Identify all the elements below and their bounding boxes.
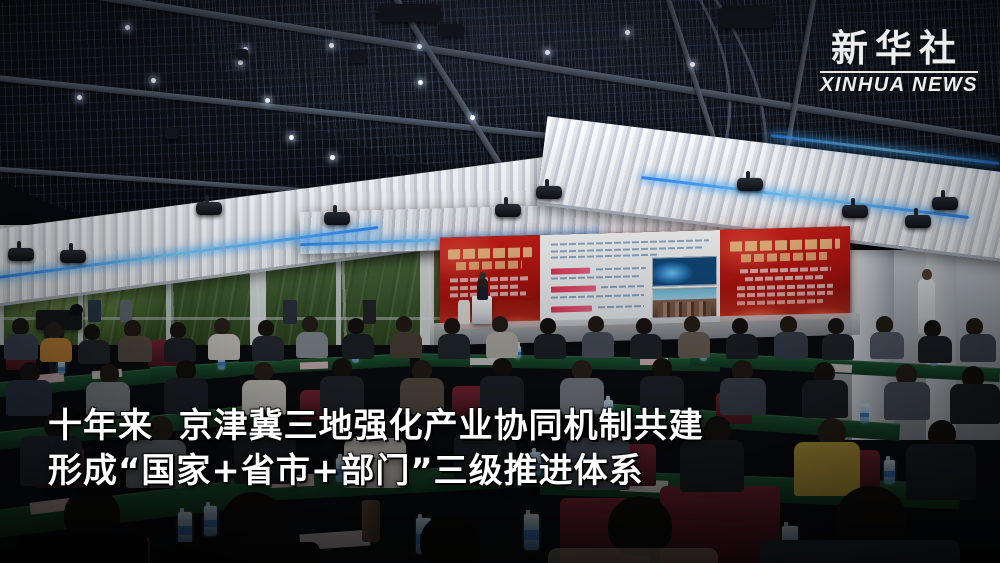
- person-head: [652, 358, 672, 378]
- video-frame: 新华社 XINHUA NEWS 十年来 京津冀三地强化产业协同机制共建 形成“国…: [0, 0, 1000, 563]
- water-bottle: [58, 360, 65, 375]
- person-head: [20, 362, 40, 382]
- person-body: [960, 334, 996, 362]
- ceiling-light: [329, 43, 334, 48]
- person-head: [412, 360, 432, 380]
- person-head: [572, 360, 592, 380]
- person-body: [454, 434, 516, 484]
- person-body: [794, 442, 860, 496]
- slide-text-line: [596, 267, 646, 270]
- screen-subtitle-text: [456, 260, 522, 270]
- person-body: [640, 376, 684, 412]
- water-bottle: [524, 514, 539, 550]
- person-head: [124, 320, 141, 337]
- ceiling-light: [151, 78, 156, 83]
- person-body: [320, 376, 364, 412]
- ceiling-light: [265, 98, 270, 103]
- standing-person: [120, 300, 132, 322]
- person-head: [258, 410, 284, 436]
- person-body: [802, 380, 848, 418]
- thermos-cup: [362, 500, 380, 542]
- water-bottle: [530, 452, 541, 476]
- person-body: [252, 336, 284, 361]
- ceiling-spotlight: [324, 212, 350, 225]
- ceiling-light: [690, 62, 695, 67]
- person-head: [540, 318, 556, 334]
- person-body: [680, 440, 744, 492]
- document-paper: [300, 362, 328, 370]
- person-body: [884, 382, 930, 420]
- person-head: [590, 414, 617, 441]
- screen-title-text: [448, 247, 532, 259]
- person-body: [630, 334, 662, 359]
- slide-text-line: [551, 294, 645, 299]
- slide-photo-industrial: [652, 256, 717, 287]
- person-head: [170, 322, 186, 338]
- person-body: [918, 336, 952, 363]
- ceiling-spotlight: [60, 250, 86, 263]
- ceiling-light: [545, 50, 550, 55]
- person-body: [726, 334, 758, 359]
- standing-person: [283, 300, 297, 324]
- person-body: [342, 334, 374, 359]
- slide-tag-label: [551, 286, 596, 293]
- standing-person: [88, 300, 101, 322]
- person-body: [170, 542, 320, 563]
- ceiling-spotlight: [932, 197, 958, 210]
- person-head: [704, 416, 731, 443]
- ceiling-spotlight: [737, 178, 763, 191]
- person-body: [86, 382, 130, 416]
- person-head: [876, 316, 893, 333]
- person-body: [822, 334, 854, 360]
- person-body: [566, 438, 630, 490]
- standing-person: [363, 300, 376, 324]
- ceiling-light: [330, 155, 335, 160]
- slide-tag-label: [551, 268, 591, 275]
- person-head: [84, 324, 100, 340]
- xinhua-news-logo: 新华社 XINHUA NEWS: [820, 30, 978, 97]
- person-body: [486, 332, 518, 358]
- slide-text-line: [551, 239, 709, 245]
- screen-body-text: [745, 275, 826, 281]
- person-head: [46, 322, 62, 338]
- person-head: [214, 318, 230, 334]
- person-head: [64, 488, 120, 540]
- person-body: [870, 332, 904, 359]
- person-body: [400, 378, 444, 414]
- person-body: [164, 338, 196, 362]
- person-body: [720, 378, 766, 415]
- person-body: [208, 334, 240, 360]
- person-head: [732, 318, 748, 334]
- screen-subtitle-text: [741, 252, 827, 262]
- person-head: [966, 318, 983, 335]
- person-body: [118, 336, 152, 362]
- person-body: [164, 378, 208, 414]
- logo-divider: [820, 71, 978, 73]
- slide-text-line: [551, 254, 659, 259]
- speaker-at-podium: [477, 278, 488, 300]
- ceiling-light: [418, 80, 423, 85]
- ceiling-light: [125, 25, 130, 30]
- person-body: [582, 332, 614, 358]
- person-head: [258, 320, 274, 336]
- person-body: [774, 332, 808, 359]
- water-bottle: [884, 460, 895, 484]
- person-body: [760, 540, 960, 563]
- stage-light-fixture: [350, 50, 366, 63]
- person-head: [302, 316, 318, 332]
- person-body: [18, 534, 148, 563]
- person-head: [478, 410, 504, 436]
- water-bottle: [178, 512, 192, 544]
- person-head: [396, 316, 412, 332]
- person-body: [548, 548, 718, 563]
- person-body: [560, 378, 604, 414]
- person-head: [684, 316, 700, 332]
- ceiling-spotlight: [8, 248, 34, 261]
- person-head: [836, 486, 906, 548]
- person-body: [390, 332, 422, 358]
- person-head: [12, 318, 29, 335]
- person-body: [4, 334, 38, 360]
- person-head: [588, 316, 604, 332]
- logo-chinese-text: 新华社: [820, 30, 978, 69]
- slide-text-line: [601, 285, 644, 288]
- person-body: [344, 438, 406, 488]
- ceiling-light: [238, 60, 243, 65]
- person-head: [420, 514, 480, 563]
- person-head: [348, 318, 364, 334]
- water-bottle: [860, 404, 869, 423]
- person-body: [234, 434, 296, 484]
- slide-text-line: [551, 246, 702, 252]
- ceiling-rigging: [378, 4, 440, 22]
- person-body: [126, 440, 186, 488]
- person-head: [444, 318, 460, 334]
- person-body: [6, 380, 52, 416]
- person-head: [780, 316, 797, 333]
- ceiling-spotlight: [495, 204, 521, 217]
- stage-light-fixture: [165, 128, 179, 139]
- ceiling-light: [625, 30, 630, 35]
- person-head: [254, 362, 273, 381]
- person-head: [176, 360, 196, 380]
- ceiling-light: [470, 115, 475, 120]
- ceiling-spotlight: [905, 215, 931, 228]
- person-body: [438, 334, 470, 359]
- person-head: [44, 412, 70, 438]
- water-bottle: [204, 506, 217, 536]
- person-head: [100, 364, 119, 383]
- screen-body-text: [450, 277, 530, 283]
- logo-english-text: XINHUA NEWS: [820, 74, 978, 97]
- person-head: [148, 416, 173, 441]
- person-body: [950, 384, 1000, 424]
- ceiling-rigging: [718, 6, 774, 28]
- person-head: [608, 496, 672, 556]
- person-body: [296, 332, 328, 358]
- person-head: [924, 320, 941, 337]
- person-body: [78, 340, 110, 364]
- slide-text-line: [551, 275, 641, 280]
- person-head: [492, 358, 512, 378]
- ceiling-spotlight: [196, 202, 222, 215]
- ceiling-light: [289, 135, 294, 140]
- screen-title-text: [730, 239, 839, 252]
- camera-lens-icon: [70, 304, 83, 316]
- person-body: [906, 444, 976, 500]
- person-head: [332, 358, 352, 378]
- person-head: [636, 318, 652, 334]
- ceiling-rigging: [438, 24, 464, 36]
- person-head: [492, 316, 508, 332]
- ceiling-spotlight: [536, 186, 562, 199]
- ceiling-spotlight: [842, 205, 868, 218]
- person-body: [20, 436, 82, 486]
- person-body: [480, 376, 524, 412]
- screen-body-text: [740, 267, 831, 274]
- standing-person: [458, 300, 470, 324]
- person-body: [40, 338, 72, 362]
- person-head: [828, 318, 844, 334]
- person-body: [242, 380, 286, 415]
- person-body: [678, 332, 710, 358]
- ceiling-light: [417, 44, 422, 49]
- audience-area: [0, 300, 1000, 563]
- person-head: [368, 414, 394, 440]
- ceiling-light: [77, 95, 82, 100]
- stage-light-fixture: [236, 49, 248, 59]
- person-body: [534, 334, 566, 359]
